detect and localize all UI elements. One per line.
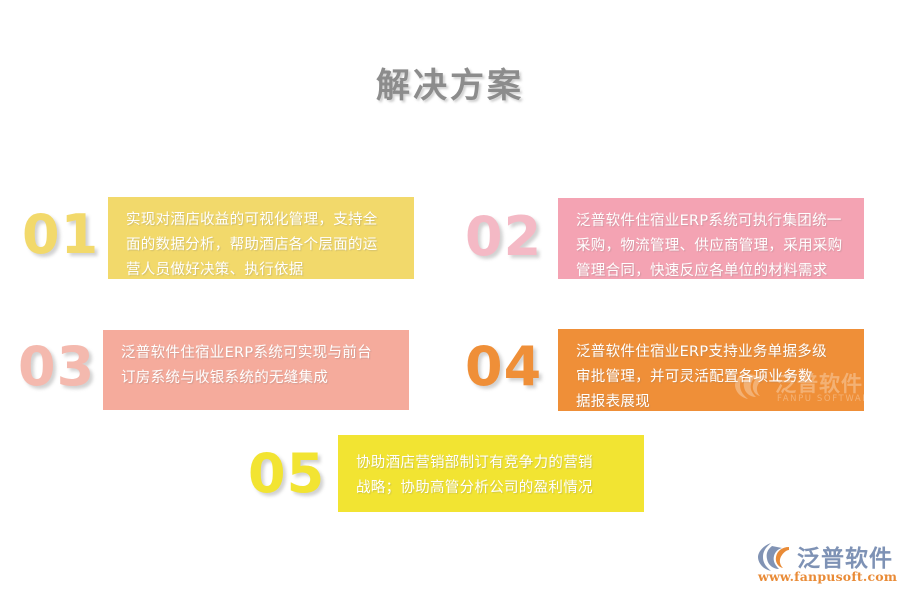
logo-brand-cn: 泛普软件: [797, 539, 893, 573]
item-text-line: 协助酒店营销部制订有竞争力的营销: [356, 451, 626, 476]
item-number-02: 02: [465, 210, 542, 264]
item-text-line: 订房系统与收银系统的无缝集成: [121, 366, 391, 391]
page-title: 解决方案: [0, 58, 900, 107]
item-number-05: 05: [248, 447, 325, 501]
item-text-line: 实现对酒店收益的可视化管理，支持全: [126, 208, 396, 233]
item-box-03: 泛普软件住宿业ERP系统可实现与前台 订房系统与收银系统的无缝集成: [103, 330, 409, 410]
item-text-line: 营人员做好决策、执行依据: [126, 258, 396, 283]
item-number-01: 01: [22, 208, 99, 262]
item-text-line: 泛普软件住宿业ERP系统可执行集团统一: [576, 209, 846, 234]
brand-logo: 泛普软件 www.fanpusoft.com: [757, 540, 897, 590]
fanpu-leaf-logo-icon: [757, 542, 793, 572]
item-text-line: 泛普软件住宿业ERP支持业务单据多级: [576, 340, 846, 365]
item-text-line: 据报表展现: [576, 390, 846, 415]
item-box-04: 泛普软件住宿业ERP支持业务单据多级 审批管理，并可灵活配置各项业务数 据报表展…: [558, 329, 864, 411]
item-text-line: 战略；协助高管分析公司的盈利情况: [356, 476, 626, 501]
item-number-03: 03: [18, 340, 95, 394]
item-text-line: 泛普软件住宿业ERP系统可实现与前台: [121, 341, 391, 366]
logo-website-url: www.fanpusoft.com: [758, 569, 897, 584]
item-text-line: 管理合同，快速反应各单位的材料需求: [576, 259, 846, 284]
item-box-05: 协助酒店营销部制订有竞争力的营销 战略；协助高管分析公司的盈利情况: [338, 435, 644, 512]
item-text-line: 采购，物流管理、供应商管理，采用采购: [576, 234, 846, 259]
item-box-02: 泛普软件住宿业ERP系统可执行集团统一 采购，物流管理、供应商管理，采用采购 管…: [558, 198, 864, 279]
solution-slide: 解决方案 01 实现对酒店收益的可视化管理，支持全 面的数据分析，帮助酒店各个层…: [0, 0, 900, 600]
item-text-line: 审批管理，并可灵活配置各项业务数: [576, 365, 846, 390]
item-number-04: 04: [465, 340, 542, 394]
item-text-line: 面的数据分析，帮助酒店各个层面的运: [126, 233, 396, 258]
item-box-01: 实现对酒店收益的可视化管理，支持全 面的数据分析，帮助酒店各个层面的运 营人员做…: [108, 197, 414, 279]
